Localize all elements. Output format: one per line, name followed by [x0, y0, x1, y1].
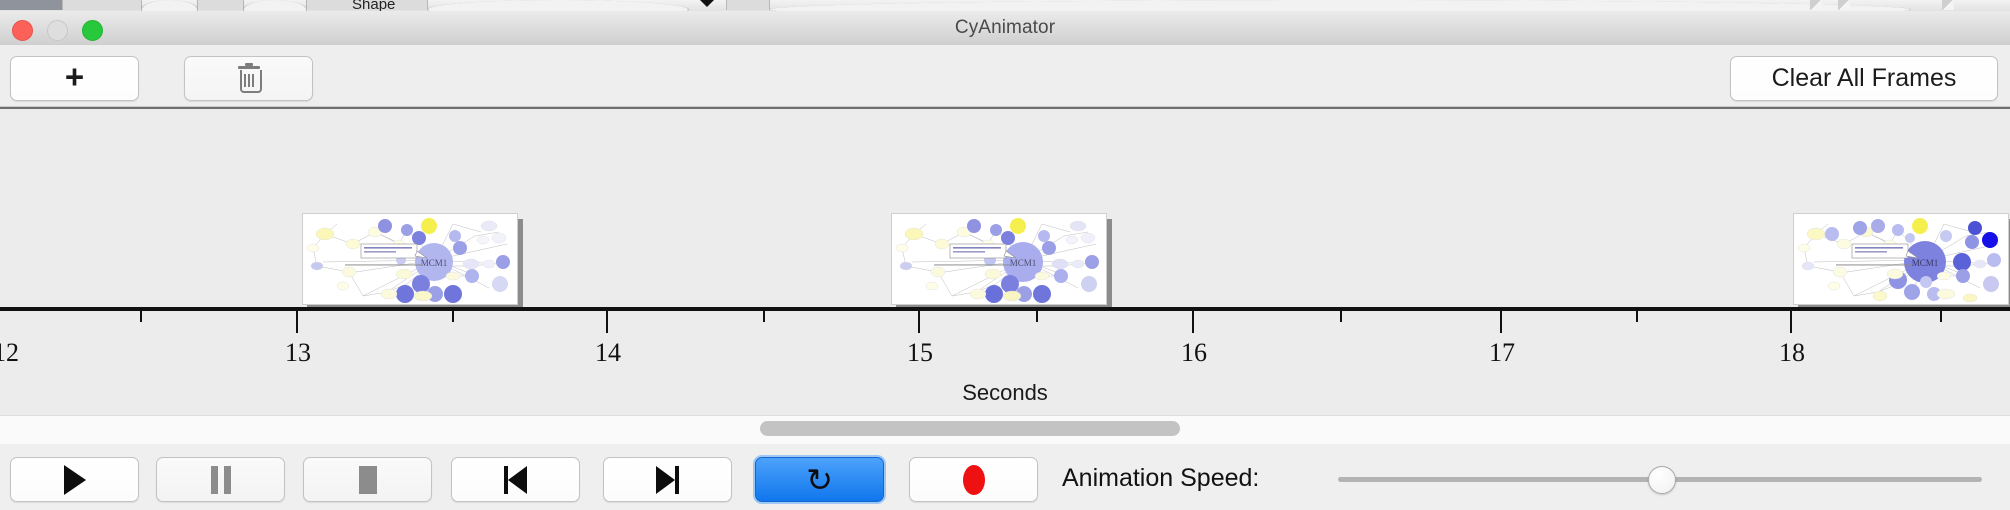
ruler-tick-major — [296, 311, 298, 333]
network-graph-thumb: MCM1 — [303, 214, 517, 304]
minimize-button[interactable] — [47, 20, 68, 41]
svg-text:MCM1: MCM1 — [1912, 258, 1939, 268]
skip-next-icon — [656, 466, 679, 494]
timeline-ruler[interactable] — [0, 307, 2010, 311]
frame-thumbnail[interactable]: MCM1 — [1793, 213, 2009, 305]
play-button[interactable] — [10, 457, 139, 502]
network-graph-thumb: MCM1 — [892, 214, 1106, 304]
background-segment — [726, 0, 770, 10]
pause-button[interactable] — [156, 457, 285, 502]
ruler-tick-major — [1790, 311, 1792, 333]
ruler-label: 14 — [595, 338, 621, 368]
record-icon — [963, 465, 985, 495]
next-frame-button[interactable] — [603, 457, 732, 502]
ruler-tick-major — [606, 311, 608, 333]
loop-icon: ↻ — [806, 466, 833, 494]
animation-speed-slider-knob[interactable] — [1648, 466, 1676, 494]
ruler-tick-minor — [763, 311, 765, 322]
ruler-tick-minor — [140, 311, 142, 322]
window-title: CyAnimator — [0, 11, 2010, 45]
ruler-label: 12 — [0, 338, 19, 368]
delete-frame-button[interactable] — [184, 56, 313, 101]
trash-icon — [238, 66, 260, 92]
network-graph-thumb: MCM1 — [1794, 214, 2008, 304]
ruler-tick-minor — [1340, 311, 1342, 322]
play-icon — [64, 465, 86, 495]
animation-speed-label: Animation Speed: — [1062, 457, 1259, 500]
background-notch-icon — [1810, 0, 1822, 10]
close-button[interactable] — [12, 20, 33, 41]
background-segment — [62, 0, 142, 10]
cyanimator-window: Shape CyAnimator + Clear All Frames — [0, 0, 2010, 510]
previous-frame-button[interactable] — [451, 457, 580, 502]
axis-title-seconds: Seconds — [0, 380, 2010, 406]
ruler-tick-minor — [1940, 311, 1942, 322]
ruler-label: 13 — [285, 338, 311, 368]
ruler-tick-major — [1192, 311, 1194, 333]
background-notch-icon — [1838, 0, 1850, 10]
background-segment — [197, 0, 244, 10]
ruler-label: 18 — [1779, 338, 1805, 368]
plus-icon: + — [65, 77, 84, 80]
ruler-label: 16 — [1181, 338, 1207, 368]
stop-button[interactable] — [303, 457, 432, 502]
clear-all-frames-button[interactable]: Clear All Frames — [1730, 56, 1998, 101]
skip-previous-icon — [504, 466, 527, 494]
maximize-button[interactable] — [82, 20, 103, 41]
ruler-tick-major — [1500, 311, 1502, 333]
timeline-scrollbar-thumb[interactable] — [760, 421, 1180, 436]
ruler-tick-minor — [452, 311, 454, 322]
traffic-lights — [12, 20, 103, 41]
background-selected-tab — [0, 0, 62, 10]
ruler-label: 17 — [1489, 338, 1515, 368]
svg-text:MCM1: MCM1 — [421, 258, 448, 268]
add-frame-button[interactable]: + — [10, 56, 139, 101]
pause-icon — [211, 466, 231, 494]
loop-button[interactable]: ↻ — [755, 457, 884, 502]
frame-thumbnail[interactable]: MCM1 — [302, 213, 518, 305]
record-button[interactable] — [909, 457, 1038, 502]
svg-text:MCM1: MCM1 — [1010, 258, 1037, 268]
background-notch-icon — [1942, 0, 1954, 10]
ruler-tick-minor — [1036, 311, 1038, 322]
ruler-tick-minor — [1636, 311, 1638, 322]
stop-icon — [359, 466, 377, 494]
ruler-tick-major — [918, 311, 920, 333]
titlebar[interactable]: CyAnimator — [0, 11, 2010, 46]
ruler-label: 15 — [907, 338, 933, 368]
frame-thumbnail[interactable]: MCM1 — [891, 213, 1107, 305]
background-caret-icon — [700, 0, 714, 7]
